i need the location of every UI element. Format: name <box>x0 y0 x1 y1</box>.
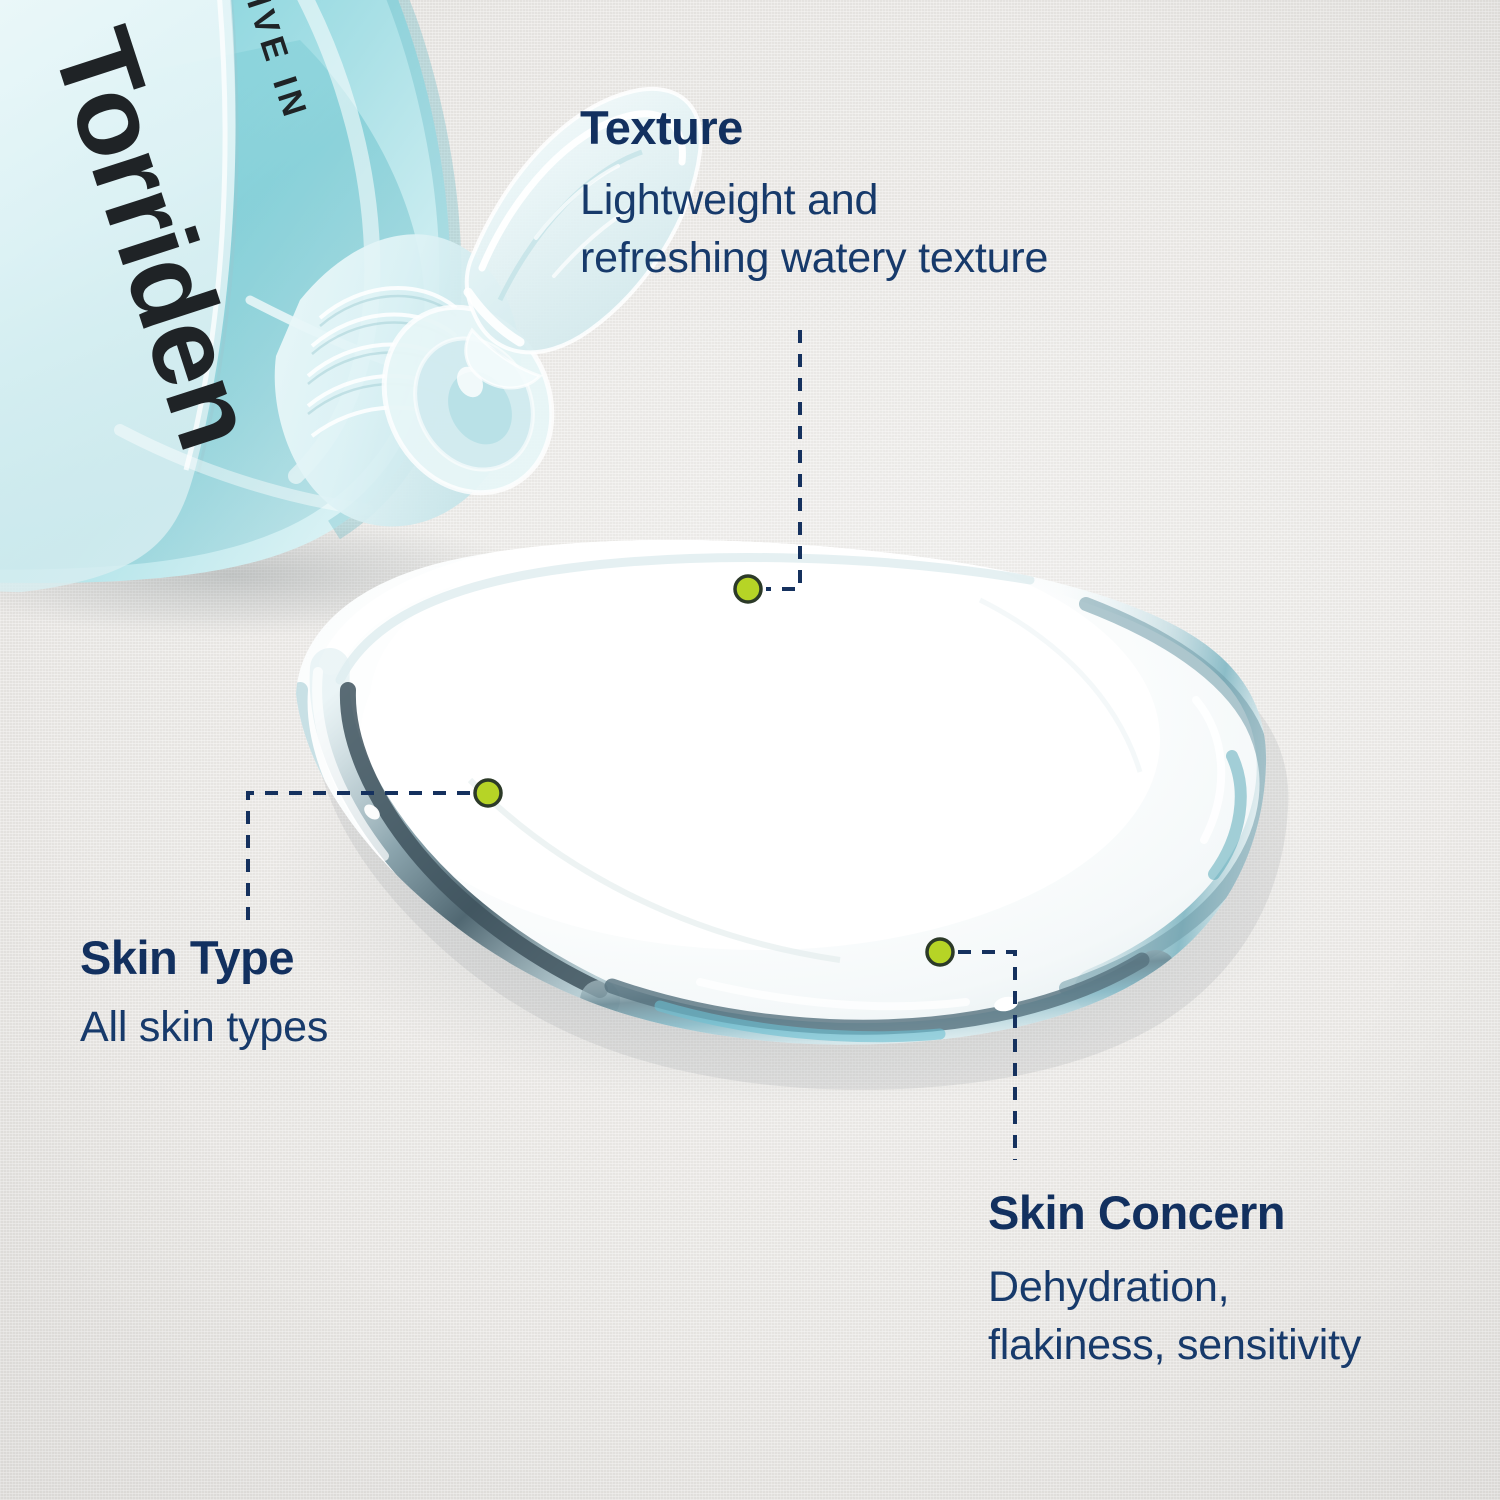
callout-skin-concern-body-line-2: flakiness, sensitivity <box>988 1311 1361 1379</box>
marker-dot-skin-type <box>475 780 501 806</box>
callout-texture: Texture Lightweight and refreshing water… <box>580 100 1048 294</box>
marker-dot-skin-concern <box>927 939 953 965</box>
marker-dot-texture <box>735 576 761 602</box>
callout-skin-type-title: Skin Type <box>80 930 328 986</box>
callout-skin-concern: Skin Concern Dehydration, flakiness, sen… <box>988 1185 1361 1379</box>
callout-texture-body-line-2: refreshing watery texture <box>580 222 1048 294</box>
callout-skin-type: Skin Type All skin types <box>80 930 328 1056</box>
callout-skin-concern-title: Skin Concern <box>988 1185 1361 1241</box>
callout-texture-title: Texture <box>580 100 1048 156</box>
infographic-canvas: Torriden DIVE IN <box>0 0 1500 1500</box>
callout-skin-type-body-line-1: All skin types <box>80 998 328 1056</box>
